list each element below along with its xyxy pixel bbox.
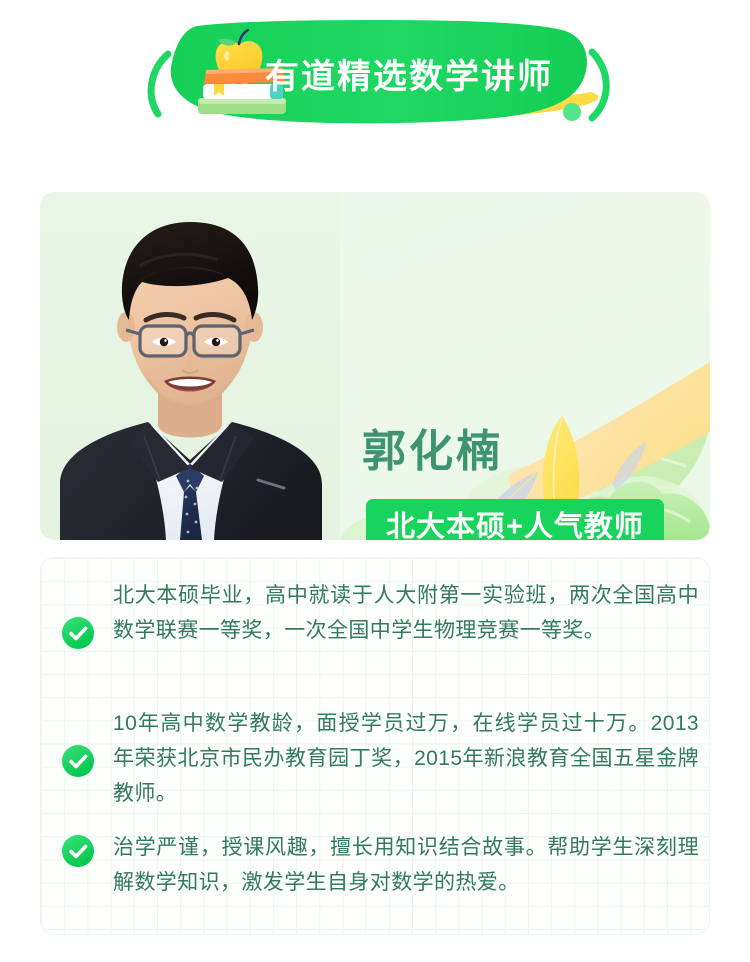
highlight-text: 10年高中数学教龄，面授学员过万，在线学员过十万。2013年荣获北京市民办教育园… [113,706,699,811]
list-item: 治学严谨，授课风趣，擅长用知识结合故事。帮助学生深刻理解数学知识，激发学生自身对… [61,830,699,900]
banner-title: 有道精选数学讲师 [265,52,565,102]
highlights-card: 北大本硕毕业，高中就读于人大附第一实验班，两次全国高中数学联赛一等奖，一次全国中… [40,557,710,935]
teacher-badge: 北大本硕+人气教师 [366,499,664,540]
list-item: 10年高中数学教龄，面授学员过万，在线学员过十万。2013年荣获北京市民办教育园… [61,706,699,811]
teacher-portrait [40,192,340,540]
list-item: 北大本硕毕业，高中就读于人大附第一实验班，两次全国高中数学联赛一等奖，一次全国中… [61,578,699,650]
highlight-text: 治学严谨，授课风趣，擅长用知识结合故事。帮助学生深刻理解数学知识，激发学生自身对… [113,830,699,900]
check-circle-icon [61,744,95,778]
page-banner: 有道精选数学讲师 [0,0,750,160]
teacher-profile-card: 郭化楠 北大本硕+人气教师 教师资格证编号： 20121100141003309 [40,192,710,540]
teacher-name: 郭化楠 [362,424,503,480]
highlight-text: 北大本硕毕业，高中就读于人大附第一实验班，两次全国高中数学联赛一等奖，一次全国中… [113,578,699,648]
check-circle-icon [61,834,95,868]
check-circle-icon [61,616,95,650]
